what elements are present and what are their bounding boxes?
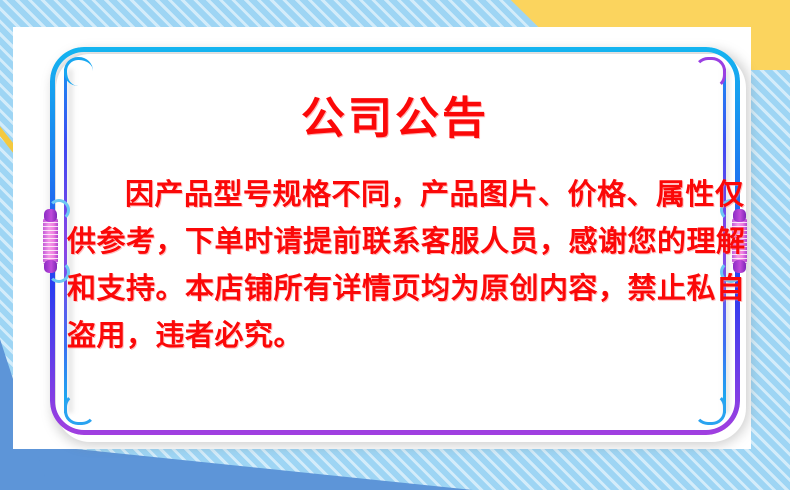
- notice-line-text: 和支持。本店铺所有详情页均为原创内容，禁止私自: [67, 271, 746, 305]
- notice-line-text: 供参考，下单时请提前联系客服人员，感谢您的理解: [67, 224, 746, 258]
- gradient-frame: 公司公告 因产品型号规格不同，产品图片、价格、属性仅 供参考，下单时请提前联系客…: [50, 47, 740, 435]
- announcement-banner: 公司公告 因产品型号规格不同，产品图片、价格、属性仅 供参考，下单时请提前联系客…: [0, 0, 790, 490]
- notice-title: 公司公告: [301, 97, 489, 141]
- notice-body: 因产品型号规格不同，产品图片、价格、属性仅 供参考，下单时请提前联系客服人员，感…: [67, 171, 723, 359]
- notice-line: 盗用，违者必究。: [67, 312, 723, 359]
- notice-line: 和支持。本店铺所有详情页均为原创内容，禁止私自: [67, 265, 723, 312]
- spring-tip-bottom: [44, 260, 57, 273]
- notice-line-text: 因产品型号规格不同，产品图片、价格、属性仅: [125, 177, 745, 211]
- notice-content: 公司公告 因产品型号规格不同，产品图片、价格、属性仅 供参考，下单时请提前联系客…: [82, 65, 708, 417]
- notice-line: 因产品型号规格不同，产品图片、价格、属性仅: [67, 171, 723, 218]
- spring-ornament-left: [41, 204, 60, 278]
- notice-line-text: 盗用，违者必究。: [67, 318, 303, 352]
- notice-line: 供参考，下单时请提前联系客服人员，感谢您的理解: [67, 218, 723, 265]
- spring-tip-top: [44, 209, 57, 222]
